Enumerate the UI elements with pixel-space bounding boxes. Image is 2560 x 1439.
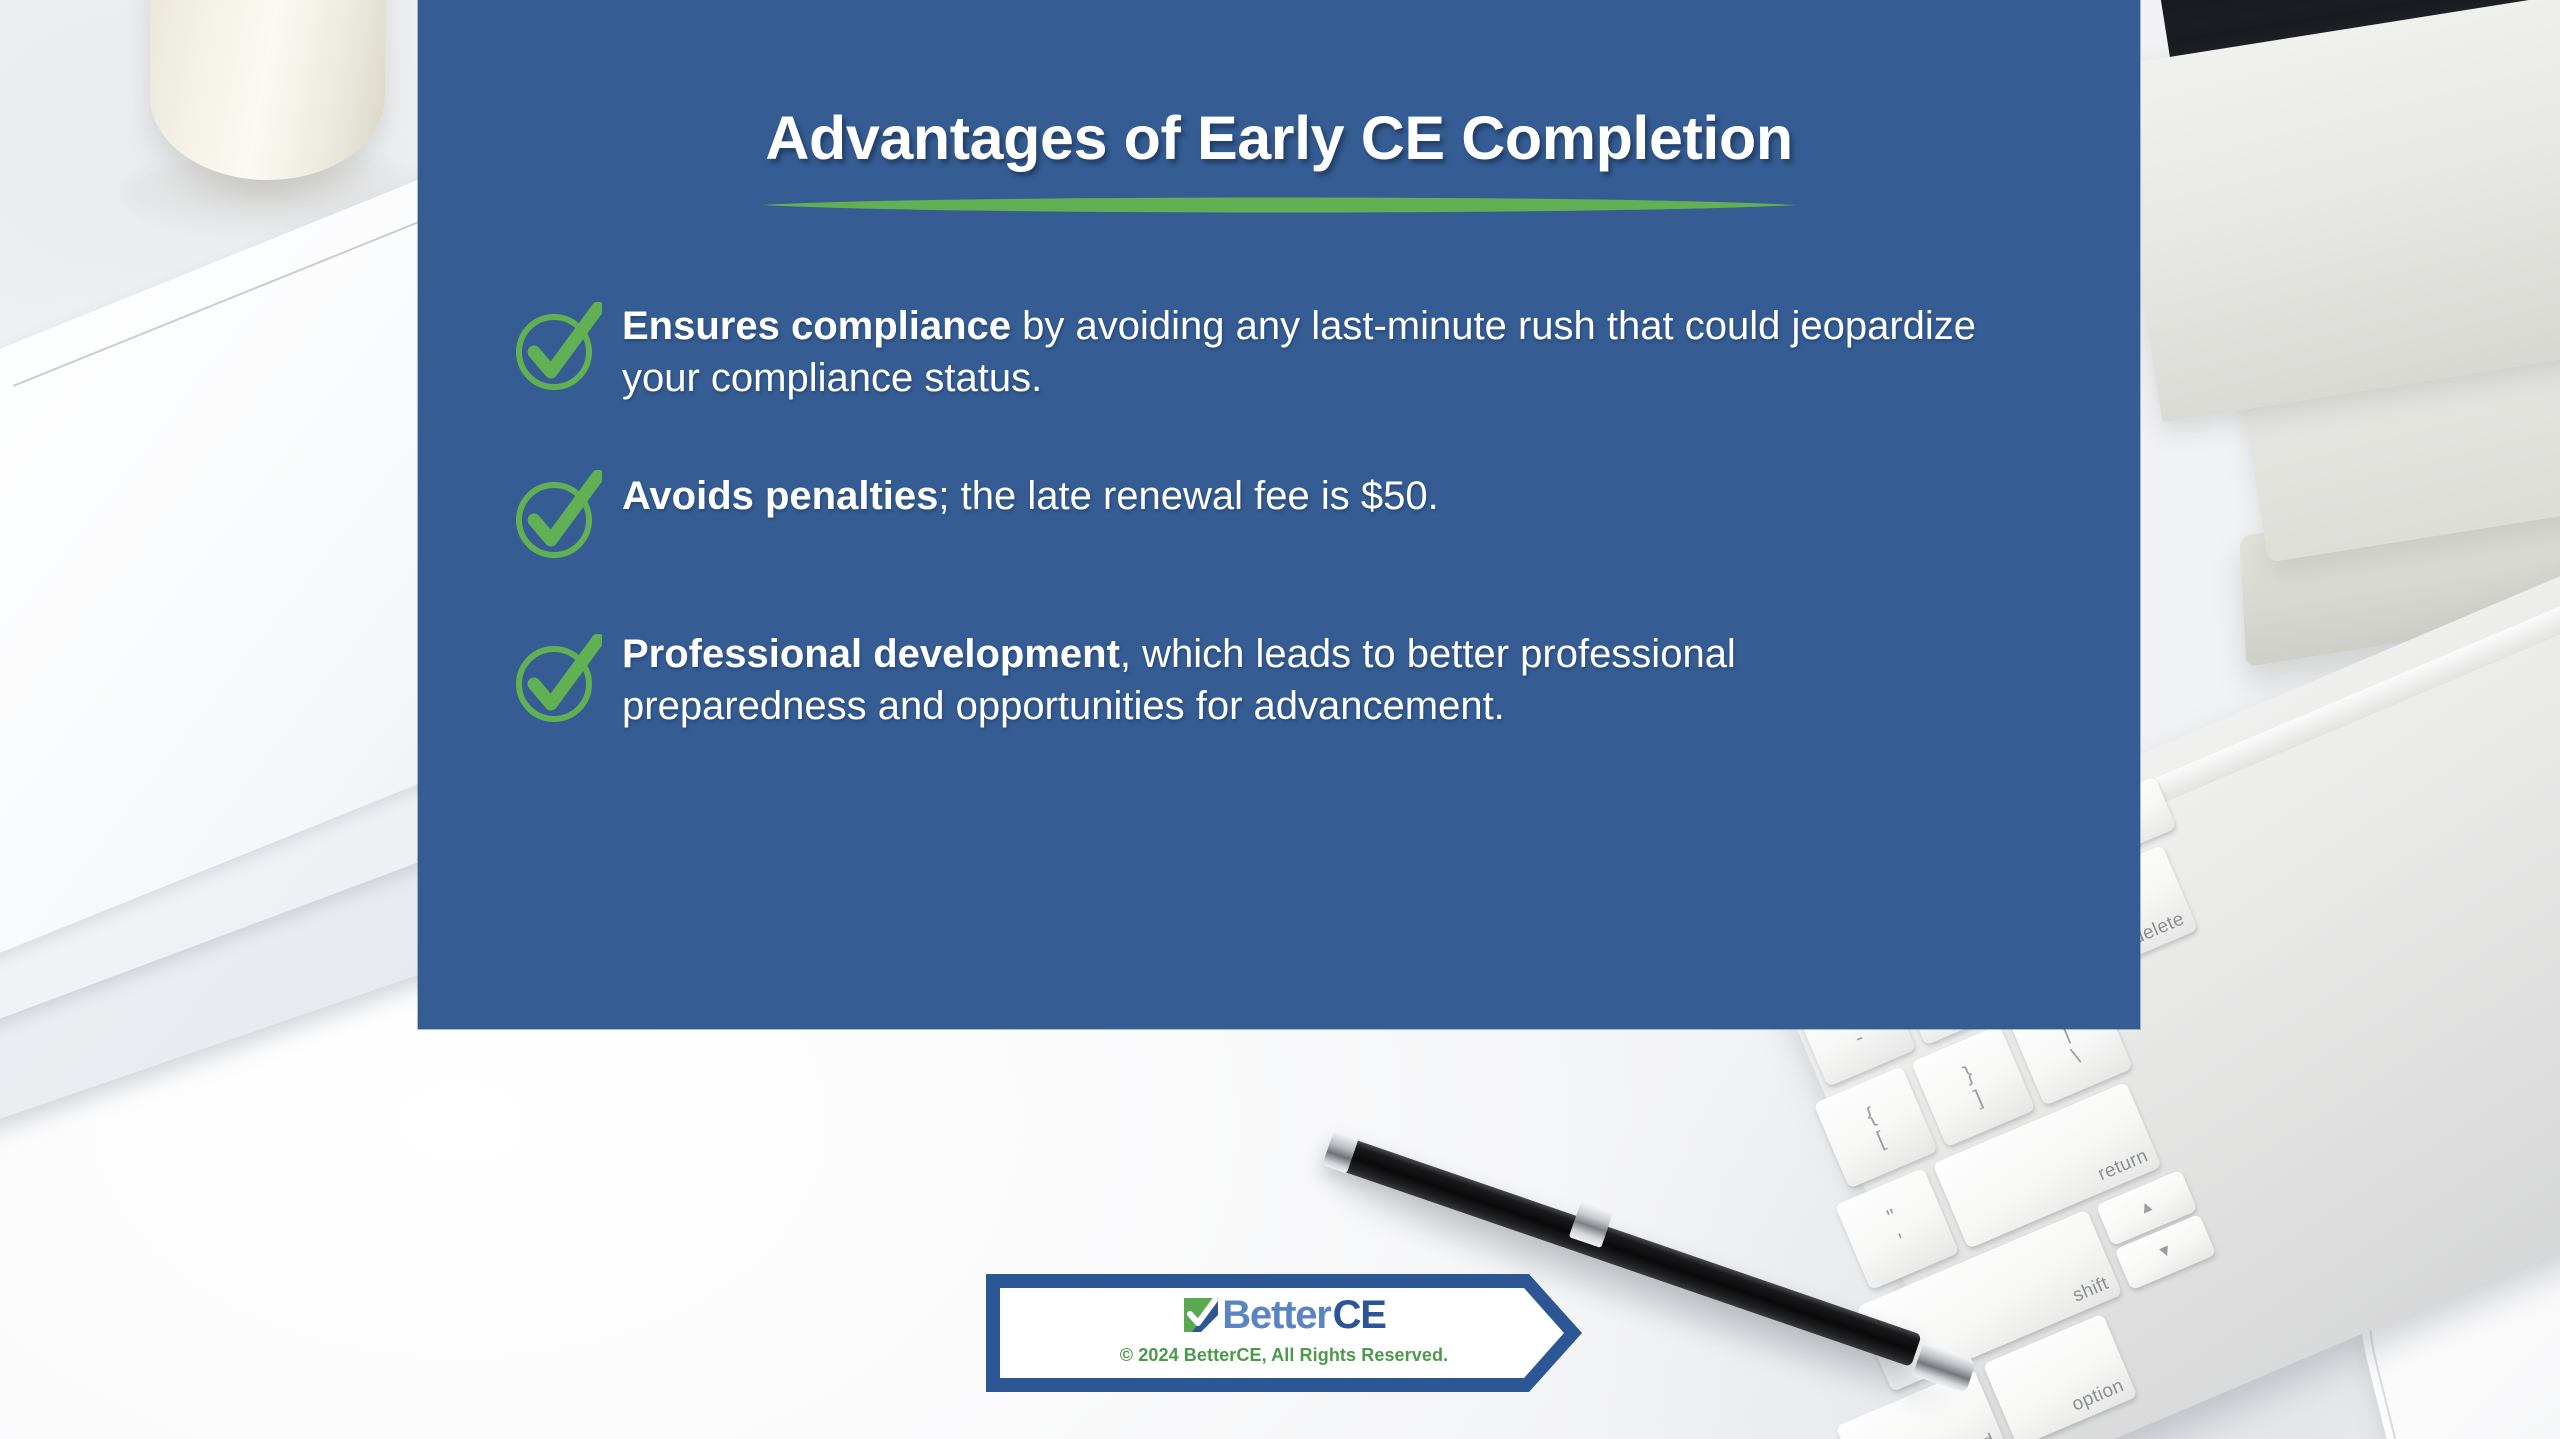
brand-name-ce: CE [1333, 1295, 1386, 1335]
list-item-rest: ; the late renewal fee is $50. [938, 474, 1438, 518]
page-title: Advantages of Early CE Completion [418, 103, 2140, 173]
betterce-wordmark: BetterCE [1182, 1292, 1386, 1338]
advantages-list: Ensures compliance by avoiding any last-… [510, 300, 2070, 732]
copyright-text: © 2024 BetterCE, All Rights Reserved. [984, 1345, 1584, 1366]
list-item: Ensures compliance by avoiding any last-… [510, 300, 2070, 404]
list-item-text: Professional development, which leads to… [622, 628, 1982, 732]
brand-name-better: Better [1222, 1295, 1330, 1335]
list-item-text: Ensures compliance by avoiding any last-… [622, 300, 1982, 404]
betterce-check-square-logo [1182, 1296, 1220, 1334]
green-check-circle-icon [510, 634, 602, 726]
fountain-pen [1300, 1060, 2000, 1260]
list-item-lead: Professional development [622, 632, 1120, 676]
green-check-circle-icon [510, 302, 602, 394]
list-item-lead: Ensures compliance [622, 304, 1011, 348]
list-item-lead: Avoids penalties [622, 474, 938, 518]
monitor-body [2106, 0, 2560, 423]
coffee-cup [150, 0, 385, 180]
betterce-footer-badge: BetterCE © 2024 BetterCE, All Rights Res… [984, 1272, 1584, 1394]
slide-canvas: F10 F11 F12 _- += delete {[ }] |\ "' ret… [0, 0, 2560, 1439]
list-item-text: Avoids penalties; the late renewal fee i… [622, 470, 1439, 522]
title-divider [762, 196, 1797, 214]
list-item: Professional development, which leads to… [510, 628, 2070, 732]
content-panel: Advantages of Early CE Completion [418, 0, 2140, 1029]
list-item: Avoids penalties; the late renewal fee i… [510, 470, 2070, 562]
green-check-circle-icon [510, 470, 602, 562]
